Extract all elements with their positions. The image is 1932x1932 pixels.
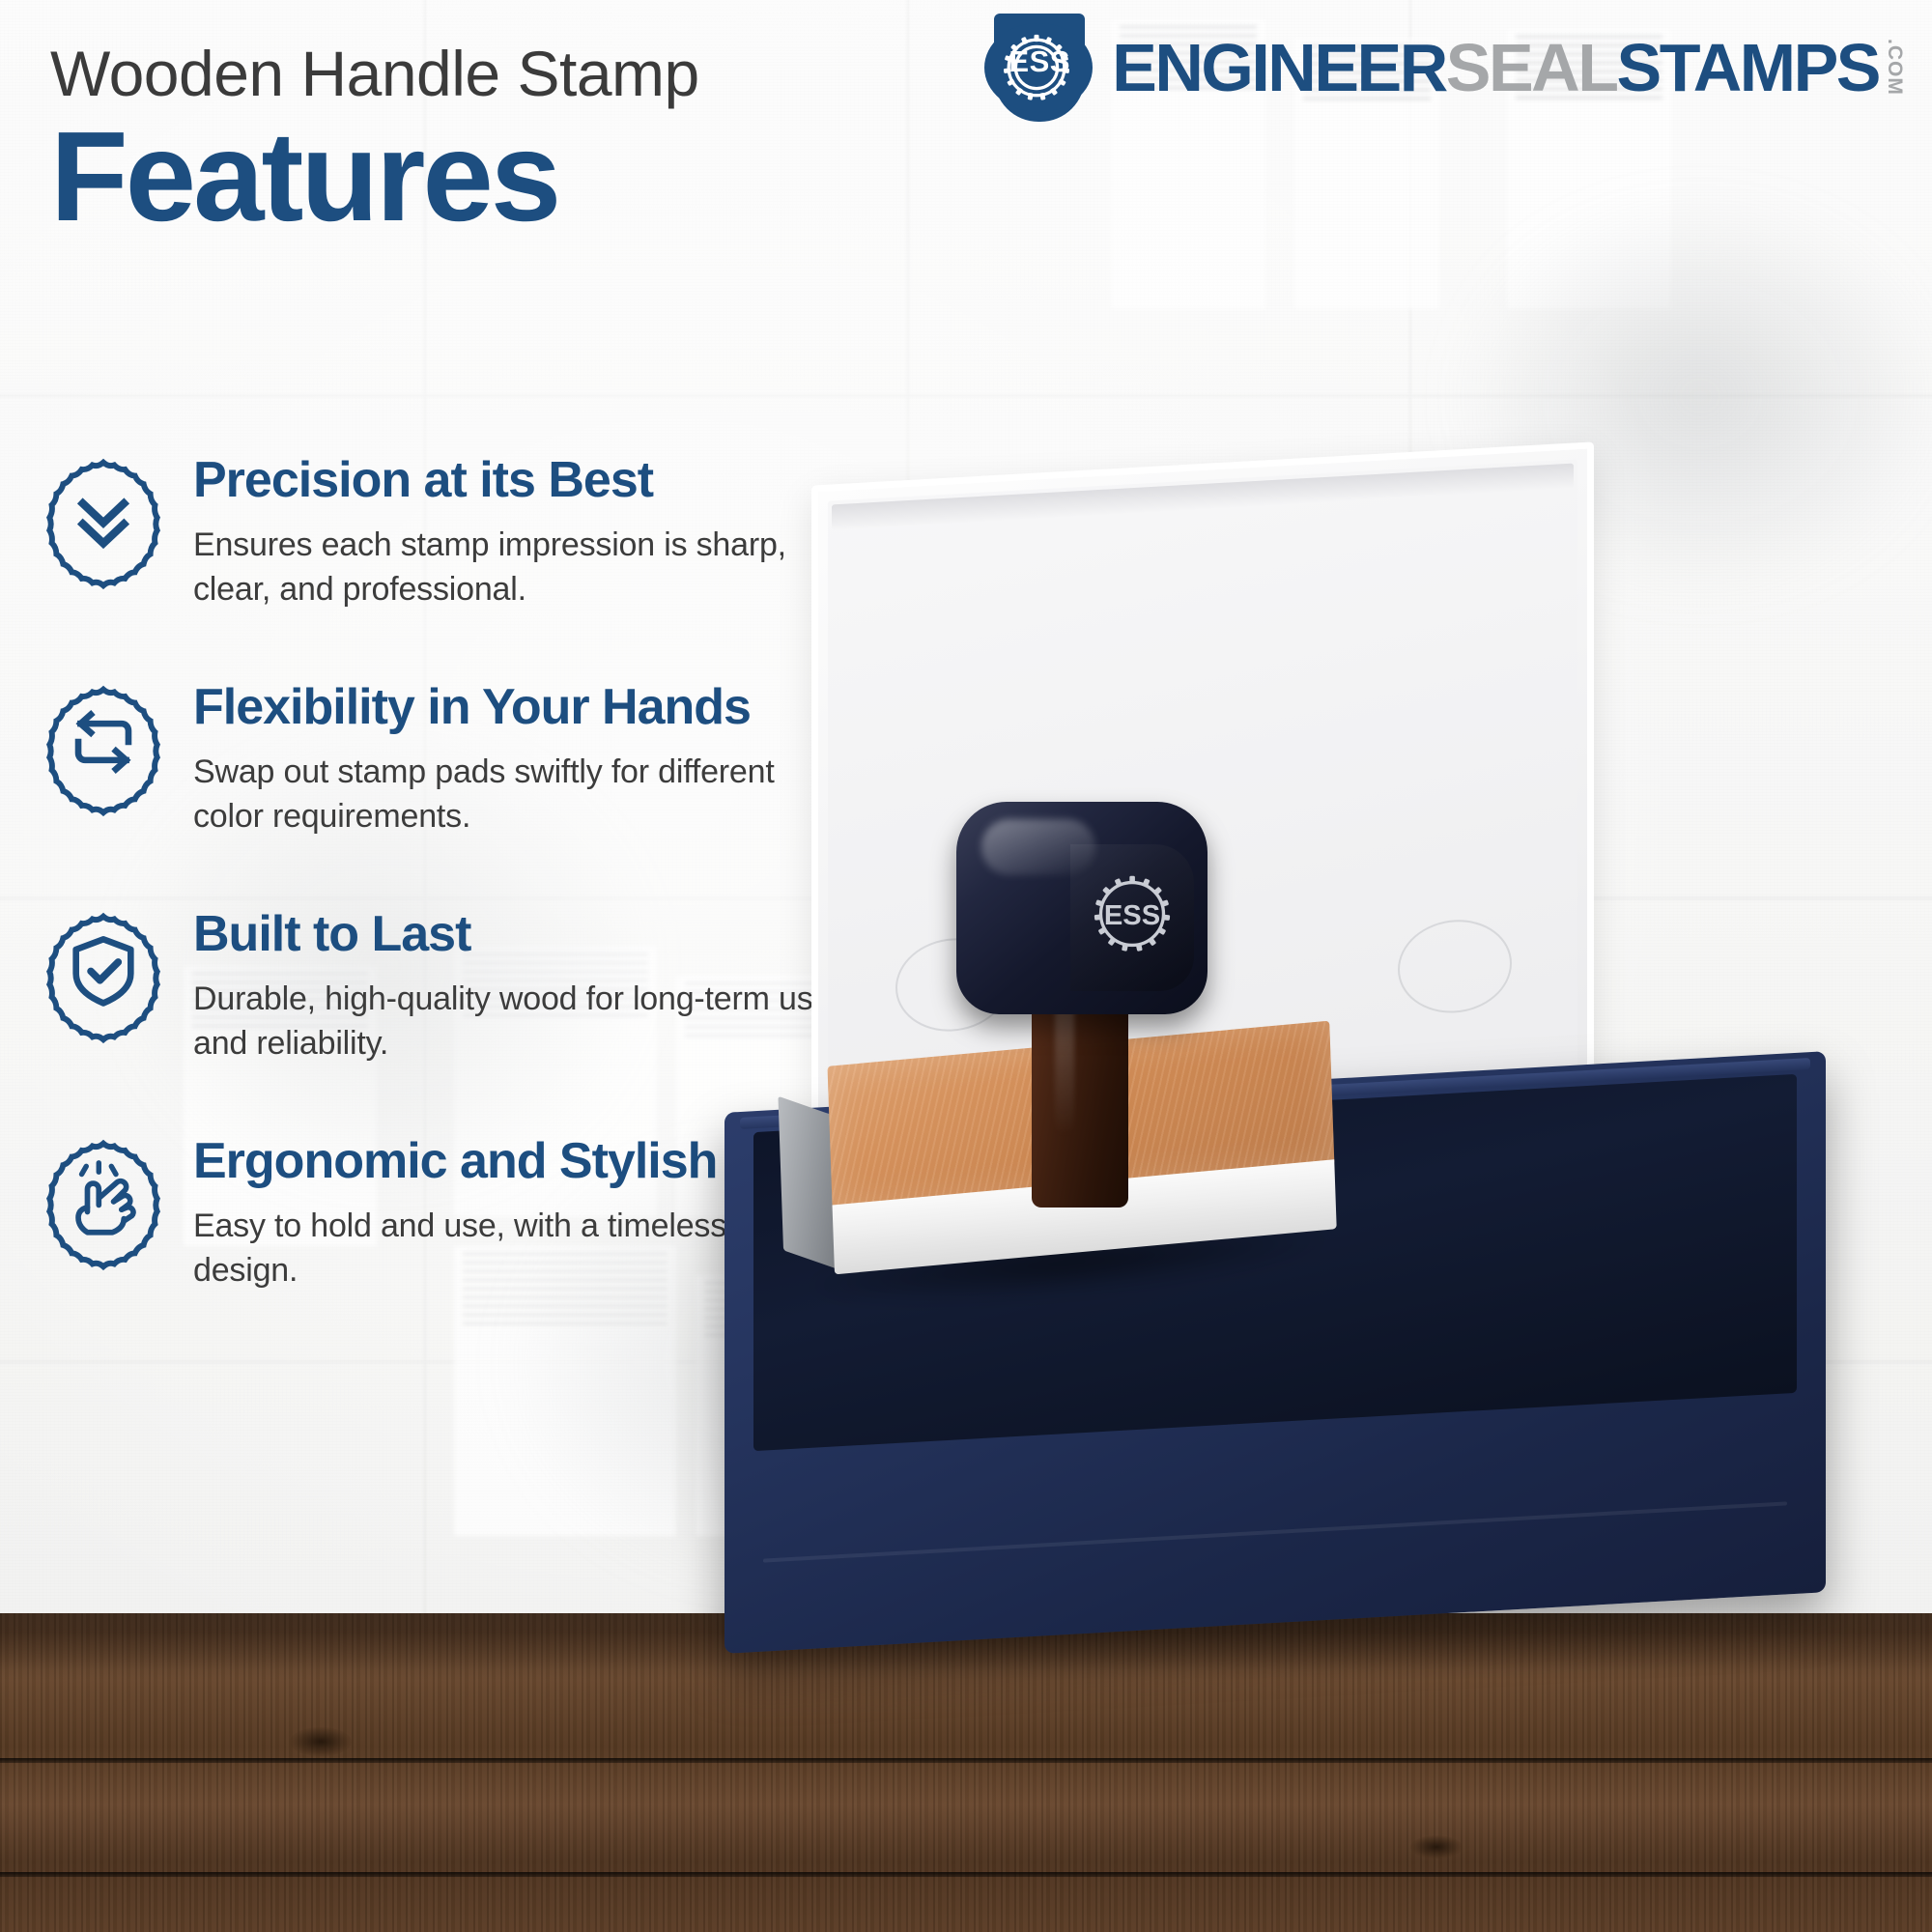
- feature-title: Precision at its Best: [193, 454, 908, 507]
- wordmark-dotcom: .COM: [1885, 39, 1905, 96]
- badge-shield-check-icon: [46, 912, 160, 1026]
- badge-pointing-hand-icon: [46, 1139, 160, 1253]
- page-title: Features: [50, 116, 997, 239]
- badge-chevron-double-down-icon: [46, 458, 160, 572]
- product-photo-stamp-in-box: ESS: [927, 502, 1932, 1816]
- feature-description: Ensures each stamp impression is sharp, …: [193, 523, 850, 611]
- logo-mark-text: ESS: [980, 44, 1098, 79]
- feature-item: Built to Last Durable, high-quality wood…: [39, 908, 908, 1065]
- wordmark-engineer: ENGINEER: [1112, 34, 1446, 101]
- knob-ess-gear-logo-icon: ESS: [1078, 860, 1186, 968]
- feature-item: Precision at its Best Ensures each stamp…: [39, 454, 908, 611]
- wordmark-seal: SEAL: [1446, 34, 1617, 101]
- ess-gear-logo-icon: ESS: [980, 14, 1098, 122]
- feature-title: Flexibility in Your Hands: [193, 681, 908, 734]
- stamp-handle: ESS: [956, 802, 1207, 1207]
- badge-swap-arrows-icon: [46, 685, 160, 799]
- header-block: Wooden Handle Stamp Features: [50, 41, 997, 239]
- feature-description: Durable, high-quality wood for long-term…: [193, 977, 850, 1065]
- knob-logo-text: ESS: [1104, 900, 1160, 931]
- wordmark-stamps: STAMPS: [1617, 34, 1880, 101]
- feature-title: Built to Last: [193, 908, 908, 961]
- page-kicker: Wooden Handle Stamp: [50, 41, 997, 108]
- brand-wordmark: ENGINEER SEAL STAMPS .COM: [1112, 34, 1905, 101]
- feature-description: Swap out stamp pads swiftly for differen…: [193, 750, 850, 838]
- brand-logo[interactable]: ESS ENGINEER SEAL STAMPS .COM: [980, 14, 1905, 122]
- feature-item: Flexibility in Your Hands Swap out stamp…: [39, 681, 908, 838]
- infographic-canvas: Wooden Handle Stamp Features: [0, 0, 1932, 1932]
